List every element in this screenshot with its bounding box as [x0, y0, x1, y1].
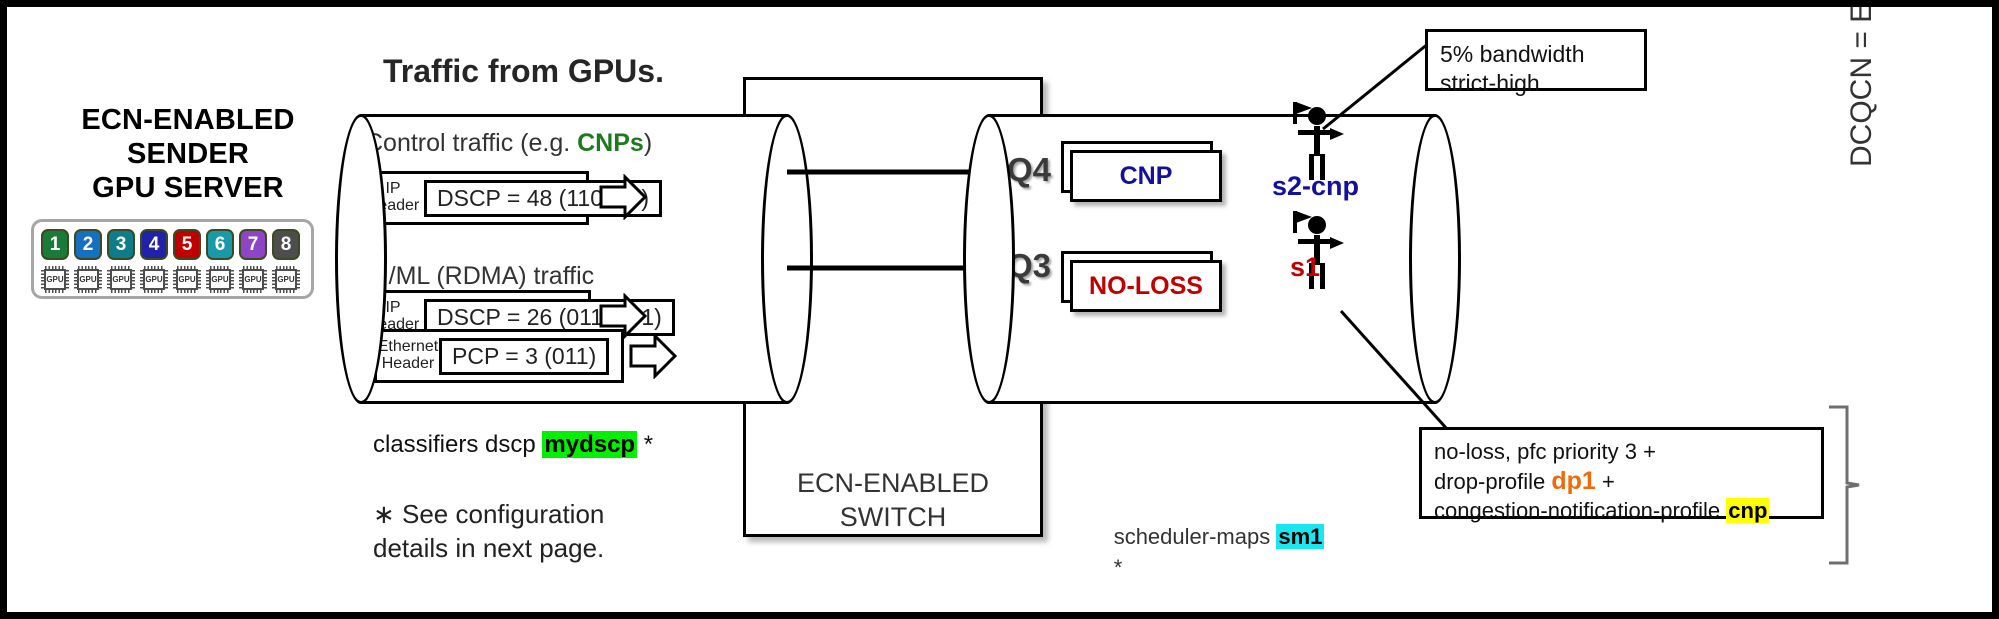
control-traffic-suffix: )	[644, 129, 652, 157]
scheduler-maps-prefix: scheduler-maps	[1114, 524, 1277, 549]
gpu-tile-2: 2	[74, 229, 102, 260]
sm1-value: sm1	[1276, 524, 1324, 549]
control-traffic-label: Control traffic (e.g. CNPs)	[365, 129, 652, 158]
note-line-2: details in next page.	[373, 531, 604, 565]
gpu-chip-icon-1: GPU	[41, 266, 69, 293]
control-traffic-prefix: Control traffic (e.g.	[365, 129, 577, 157]
mydscp-value: mydscp	[542, 431, 637, 458]
drop-profile-value: dp1	[1551, 467, 1595, 495]
gpu-chip-icon-4: GPU	[140, 266, 168, 293]
gpu-chip-row: GPUGPUGPUGPUGPUGPUGPUGPU	[41, 266, 300, 293]
flow-arrow-aiml-ip	[599, 293, 647, 327]
pfc-line-2: drop-profile dp1 +	[1434, 466, 1809, 497]
bandwidth-line-2: strict-high	[1440, 69, 1632, 98]
note-line-1: ∗ See configuration	[373, 497, 604, 531]
aiml-traffic-label: AI/ML (RDMA) traffic	[365, 262, 594, 291]
ip-header-box-control: IP Header DSCP = 48 (110000)	[359, 171, 589, 225]
gpu-chip-icon-5: GPU	[173, 266, 201, 293]
gpu-chip-icon-2: GPU	[74, 266, 102, 293]
gpu-tile-5: 5	[173, 229, 201, 260]
gpu-tile-8: 8	[272, 229, 300, 260]
gpu-tile-row: 12345678	[41, 229, 300, 260]
packet-front-noloss: NO-LOSS	[1070, 260, 1222, 312]
switch-label-line-1: ECN-ENABLED	[743, 467, 1043, 501]
bandwidth-callout: 5% bandwidth strict-high	[1425, 29, 1647, 91]
scheduler-maps-config: scheduler-maps sm1 * forwarding class CN…	[1077, 427, 1373, 619]
scheduler-maps-star: *	[1114, 555, 1123, 580]
queue-label-q4: Q4	[1007, 151, 1051, 189]
gpu-server-box: 12345678 GPUGPUGPUGPUGPUGPUGPUGPU	[31, 219, 314, 299]
cnp-profile-label: congestion-notification-profile	[1434, 498, 1726, 523]
packet-front-cnp: CNP	[1070, 150, 1222, 202]
bandwidth-line-1: 5% bandwidth	[1440, 40, 1632, 69]
classifier-prefix: classifiers dscp	[373, 431, 542, 458]
gpu-chip-icon-6: GPU	[206, 266, 234, 293]
header-label-3: Header	[377, 356, 439, 373]
dcqcn-bracket	[1827, 405, 1861, 565]
scheduler-maps-title: scheduler-maps sm1 *	[1077, 489, 1373, 614]
gpu-tile-1: 1	[41, 229, 69, 260]
pfc-callout: no-loss, pfc priority 3 + drop-profile d…	[1419, 427, 1824, 519]
diagram-canvas: ECN-ENABLED SENDER GPU SERVER 12345678 G…	[0, 0, 1999, 619]
gpu-tile-7: 7	[239, 229, 267, 260]
scheduler-name-s1: s1	[1290, 252, 1320, 283]
dcqcn-side-label: DCQCN = ECN + PFC	[1845, 0, 1879, 167]
gpu-chip-icon-7: GPU	[239, 266, 267, 293]
classifier-footnote-star: *	[644, 431, 653, 458]
cnps-keyword: CNPs	[577, 129, 644, 157]
sender-title-line-2: SENDER	[53, 137, 323, 171]
pcp-3-value: PCP = 3 (011)	[439, 338, 609, 375]
drop-profile-suffix: +	[1596, 469, 1615, 494]
cnp-profile-value: cnp	[1726, 498, 1769, 523]
gpu-tile-6: 6	[206, 229, 234, 260]
scheduler-name-s2-cnp: s2-cnp	[1272, 171, 1359, 202]
classifier-config-line: classifiers dscp mydscp *	[373, 431, 653, 459]
page-title: Traffic from GPUs.	[383, 53, 664, 90]
footnote-note: ∗ See configuration details in next page…	[373, 497, 604, 566]
ethernet-label: Ethernet	[377, 339, 439, 356]
ecn-switch-label: ECN-ENABLED SWITCH	[743, 467, 1043, 535]
drop-profile-label: drop-profile	[1434, 469, 1551, 494]
switch-label-line-2: SWITCH	[743, 501, 1043, 535]
pfc-line-3: congestion-notification-profile cnp	[1434, 497, 1809, 525]
leader-line-bandwidth	[1317, 37, 1437, 142]
gpu-chip-icon-3: GPU	[107, 266, 135, 293]
gpu-tile-4: 4	[140, 229, 168, 260]
ethernet-header-box: Ethernet Header PCP = 3 (011)	[374, 329, 624, 383]
sender-title-line-3: GPU SERVER	[53, 171, 323, 205]
sender-title-line-1: ECN-ENABLED	[53, 103, 323, 137]
ethernet-header-name: Ethernet Header	[377, 339, 439, 373]
flow-arrow-control	[599, 174, 647, 208]
sender-server-title: ECN-ENABLED SENDER GPU SERVER	[53, 103, 323, 206]
flow-arrow-aiml-eth	[629, 333, 677, 367]
gpu-chip-icon-8: GPU	[272, 266, 300, 293]
leader-line-pfc	[1337, 307, 1467, 442]
pfc-line-1: no-loss, pfc priority 3 +	[1434, 438, 1809, 466]
gpu-tile-3: 3	[107, 229, 135, 260]
